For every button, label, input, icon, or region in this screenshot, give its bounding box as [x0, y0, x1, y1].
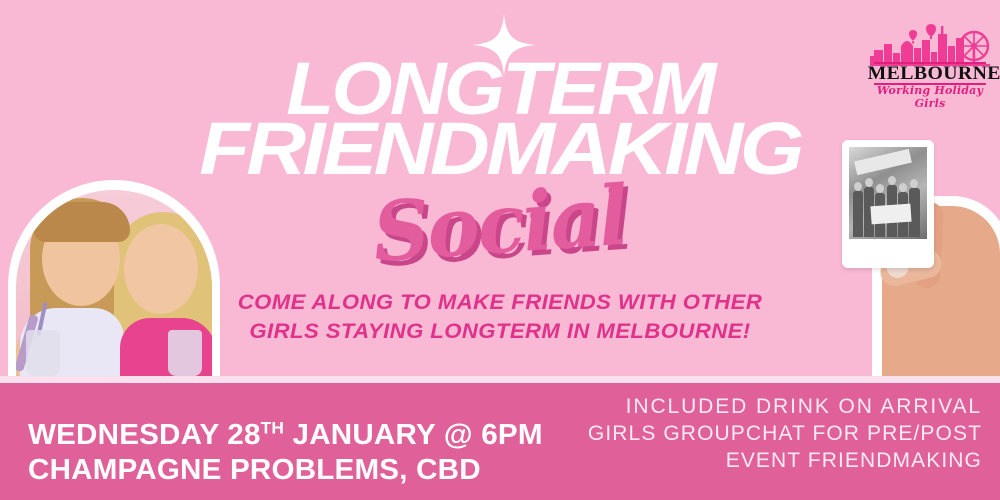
- banner-top-section: LONGTERM FRIENDMAKING Social COME ALONG …: [0, 0, 1000, 376]
- script-word-social: Social: [371, 175, 630, 274]
- logo-wordmark: MELBOURNE: [868, 64, 993, 84]
- melbourne-skyline-icon: [870, 20, 990, 66]
- melbourne-working-holiday-girls-logo: MELBOURNE Working Holiday Girls: [868, 20, 992, 104]
- photo-person-head: [876, 184, 884, 193]
- two-women-photo: [0, 176, 230, 376]
- drink-cup-right: [168, 330, 202, 376]
- photo-person-head: [888, 176, 896, 185]
- drink-cup-left: [26, 330, 60, 376]
- woman-left-fringe: [34, 202, 130, 242]
- photo-held-banner: [870, 204, 911, 225]
- photo-inner: [16, 190, 212, 376]
- photo-person-head: [910, 179, 918, 188]
- event-venue: CHAMPAGNE PROBLEMS, CBD: [28, 453, 543, 488]
- photo-person-body: [853, 191, 863, 237]
- polaroid-frame: [842, 140, 934, 268]
- logo-tagline: Working Holiday Girls: [870, 84, 990, 110]
- woman-right-face: [124, 224, 198, 314]
- perk-line-2: GIRLS GROUPCHAT FOR PRE/POST: [562, 421, 982, 448]
- photo-overhead-sign: [854, 149, 912, 175]
- event-details: WEDNESDAY 28TH JANUARY @ 6PM CHAMPAGNE P…: [28, 418, 543, 489]
- section-divider: [0, 376, 1000, 383]
- four-point-sparkle-icon: [472, 14, 536, 76]
- event-perks: INCLUDED DRINK ON ARRIVAL GIRLS GROUPCHA…: [562, 394, 982, 475]
- photo-person-head: [865, 178, 873, 187]
- perk-line-3: EVENT FRIENDMAKING: [562, 448, 982, 475]
- event-date-prefix: WEDNESDAY 28: [28, 419, 261, 451]
- hand-with-polaroid-photo: [822, 128, 1000, 376]
- polaroid-photo-image: [849, 147, 927, 239]
- photo-person-head: [854, 182, 862, 191]
- photo-person-head: [899, 183, 907, 192]
- event-date-rest: JANUARY @ 6PM: [284, 419, 543, 451]
- event-banner: LONGTERM FRIENDMAKING Social COME ALONG …: [0, 0, 1000, 500]
- event-date-ordinal: TH: [261, 418, 285, 437]
- perk-line-1: INCLUDED DRINK ON ARRIVAL: [562, 394, 982, 421]
